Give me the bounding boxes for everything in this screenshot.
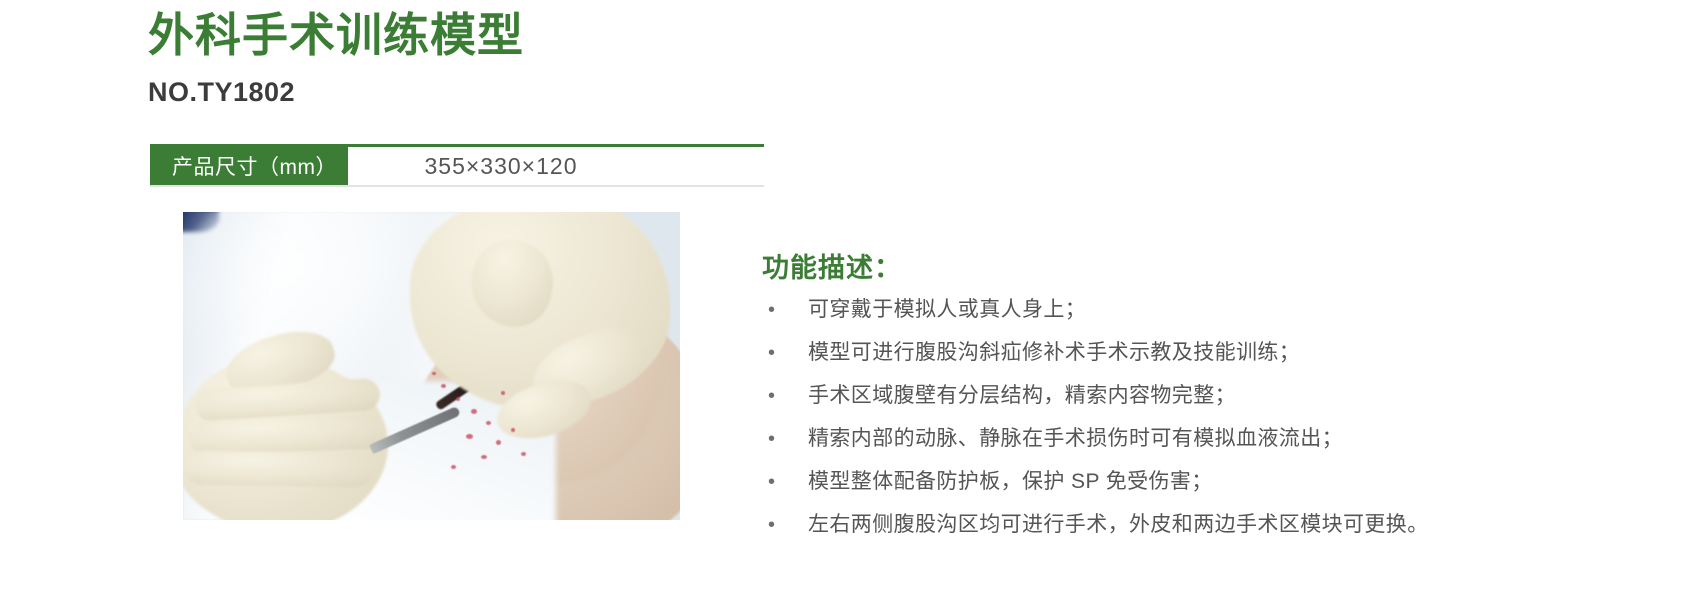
product-photo [183,212,680,520]
list-item-label: 左右两侧腹股沟区均可进行手术，外皮和两边手术区模块可更换。 [808,510,1429,540]
feature-description-section: 功能描述： • 可穿戴于模拟人或真人身上； • 模型可进行腹股沟斜疝修补术手术示… [762,246,1482,553]
bullet-icon: • [762,295,808,325]
bullet-icon: • [762,467,808,497]
list-item: • 精索内部的动脉、静脉在手术损伤时可有模拟血液流出； [762,424,1482,454]
spec-table: 产品尺寸（mm） 355×330×120 [150,144,764,187]
list-item-label: 手术区域腹壁有分层结构，精索内容物完整； [808,381,1236,411]
bullet-icon: • [762,381,808,411]
list-item: • 模型可进行腹股沟斜疝修补术手术示教及技能训练； [762,338,1482,368]
list-item: • 可穿戴于模拟人或真人身上； [762,295,1482,325]
product-photo-image [183,212,680,520]
feature-description-title: 功能描述： [762,246,1482,285]
list-item: • 模型整体配备防护板，保护 SP 免受伤害； [762,467,1482,497]
header: 外科手术训练模型 NO.TY1802 [148,8,524,108]
table-row: 产品尺寸（mm） 355×330×120 [150,147,764,187]
list-item: • 手术区域腹壁有分层结构，精索内容物完整； [762,381,1482,411]
spec-label-product-size: 产品尺寸（mm） [150,147,348,185]
bullet-icon: • [762,338,808,368]
list-item-label: 模型可进行腹股沟斜疝修补术手术示教及技能训练； [808,338,1300,368]
page-title: 外科手术训练模型 [148,8,524,63]
spec-value-product-size: 355×330×120 [348,147,764,185]
left-glove-finger-3 [185,451,374,488]
bullet-icon: • [762,424,808,454]
list-item-label: 模型整体配备防护板，保护 SP 免受伤害； [808,467,1213,497]
bullet-icon: • [762,510,808,540]
feature-list: • 可穿戴于模拟人或真人身上； • 模型可进行腹股沟斜疝修补术手术示教及技能训练… [762,295,1482,540]
list-item-label: 可穿戴于模拟人或真人身上； [808,295,1086,325]
product-datasheet-page: 外科手术训练模型 NO.TY1802 产品尺寸（mm） 355×330×120 [0,0,1700,612]
list-item-label: 精索内部的动脉、静脉在手术损伤时可有模拟血液流出； [808,424,1343,454]
product-code: NO.TY1802 [148,77,524,108]
list-item: • 左右两侧腹股沟区均可进行手术，外皮和两边手术区模块可更换。 [762,510,1482,540]
